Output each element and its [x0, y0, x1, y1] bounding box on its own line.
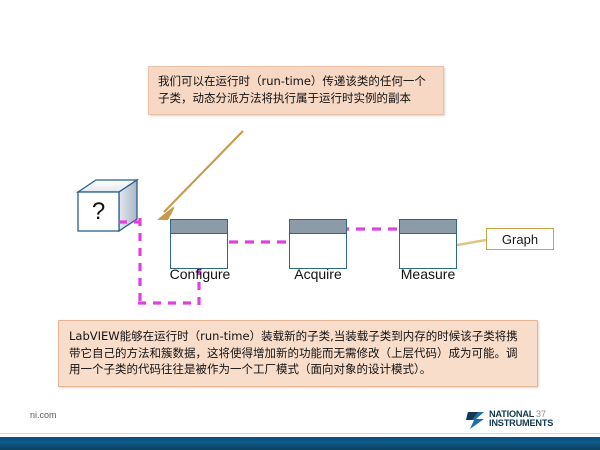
vi-node-header	[400, 220, 456, 234]
unknown-class-question-mark: ?	[78, 192, 119, 231]
footer-divider	[0, 433, 600, 434]
annotation-callout-top: 我们可以在运行时（run-time）传递该类的任何一个子类，动态分派方法将执行属…	[148, 66, 444, 115]
annotation-callout-top-text: 我们可以在运行时（run-time）传递该类的任何一个子类，动态分派方法将执行属…	[158, 73, 434, 107]
footer-bar	[0, 437, 600, 450]
callout-arrow	[157, 131, 243, 220]
vi-node-label-configure: Configure	[140, 266, 260, 282]
graph-callout-label: Graph	[502, 232, 538, 247]
vi-node-header	[171, 220, 227, 234]
vi-node-header	[290, 220, 346, 234]
vi-node-label-acquire: Acquire	[258, 266, 378, 282]
page-number: 37	[536, 409, 546, 419]
slide-canvas: ? Configure Acquire Measure Graph 我们可以在运…	[0, 0, 600, 450]
vi-node-label-measure: Measure	[368, 266, 488, 282]
footer-url: ni.com	[30, 410, 57, 420]
description-note-box: LabVIEW能够在运行时（run-time）装载新的子类,当装载子类到内存的时…	[58, 320, 538, 387]
vi-node-acquire[interactable]	[289, 219, 347, 269]
graph-callout: Graph	[486, 228, 554, 250]
description-note-text: LabVIEW能够在运行时（run-time）装载新的子类,当装载子类到内存的时…	[69, 328, 527, 378]
ni-wordmark-line2: INSTRUMENTS	[489, 419, 553, 429]
vi-node-configure[interactable]	[170, 219, 228, 269]
vi-node-measure[interactable]	[399, 219, 457, 269]
